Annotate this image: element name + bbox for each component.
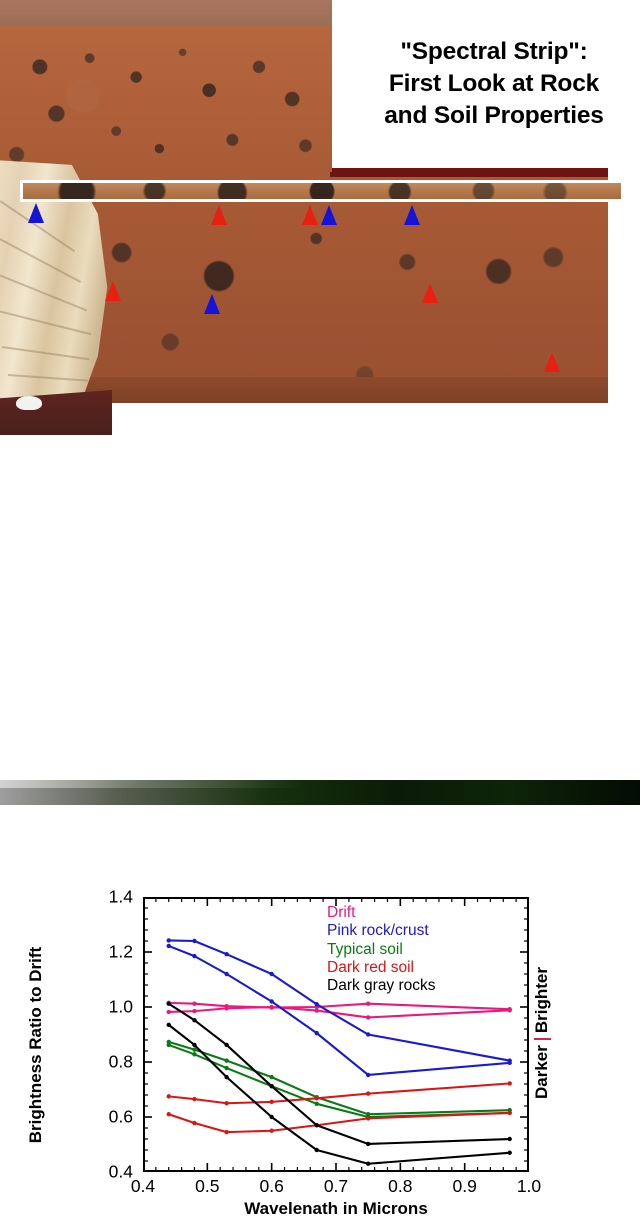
- chart-legend: DriftPink rock/crustTypical soilDark red…: [327, 904, 436, 995]
- spectra-chart: 0.40.60.81.01.21.4 0.40.50.60.70.80.91.0…: [0, 435, 640, 780]
- series-line: [169, 1025, 510, 1164]
- data-point: [366, 1002, 370, 1006]
- bottom-gradient-bar: [0, 780, 640, 805]
- red-arrow-marker: [544, 352, 560, 372]
- legend-item: Typical soil: [327, 941, 436, 959]
- data-point: [192, 1009, 196, 1013]
- right-axis-darker-label: Darker: [532, 1045, 552, 1099]
- data-point: [315, 1148, 319, 1152]
- legend-item: Dark gray rocks: [327, 977, 436, 995]
- data-point: [315, 1002, 319, 1006]
- data-point: [224, 972, 228, 976]
- data-point: [224, 1075, 228, 1079]
- photo-white-step-lower-right: [608, 322, 640, 435]
- right-axis-divider: [534, 1038, 551, 1040]
- y-tick-label: 1.2: [89, 942, 133, 963]
- data-point: [167, 1023, 171, 1027]
- data-point: [315, 1008, 319, 1012]
- blue-arrow-marker: [321, 205, 337, 225]
- series-line: [169, 1113, 510, 1132]
- title-line-2: First Look at Rock: [358, 68, 630, 100]
- legend-item: Drift: [327, 904, 436, 922]
- blue-arrow-marker: [204, 294, 220, 314]
- data-point: [167, 1112, 171, 1116]
- data-point: [508, 1061, 512, 1065]
- data-point: [224, 1101, 228, 1105]
- title-line-3: and Soil Properties: [358, 100, 630, 132]
- data-point: [269, 1115, 273, 1119]
- data-point: [366, 1162, 370, 1166]
- series-line: [169, 1007, 510, 1017]
- data-point: [224, 1043, 228, 1047]
- data-point: [192, 1052, 196, 1056]
- data-point: [366, 1116, 370, 1120]
- x-tick-label: 0.6: [249, 1176, 295, 1197]
- data-point: [269, 1129, 273, 1133]
- red-arrow-marker: [211, 205, 227, 225]
- data-point: [224, 952, 228, 956]
- data-point: [269, 972, 273, 976]
- y-tick-label: 0.6: [89, 1107, 133, 1128]
- lander-highlight: [16, 396, 42, 410]
- data-point: [508, 1081, 512, 1085]
- data-point: [224, 1058, 228, 1062]
- y-tick-label: 1.4: [89, 887, 133, 908]
- data-point: [192, 939, 196, 943]
- data-point: [315, 1102, 319, 1106]
- data-point: [167, 1002, 171, 1006]
- data-point: [508, 1137, 512, 1141]
- legend-item: Dark red soil: [327, 959, 436, 977]
- data-point: [192, 954, 196, 958]
- data-point: [192, 1043, 196, 1047]
- data-point: [167, 944, 171, 948]
- y-tick-label: 1.0: [89, 997, 133, 1018]
- blue-arrow-marker: [28, 203, 44, 223]
- mars-ground-rocks: [0, 26, 332, 172]
- data-point: [269, 1084, 273, 1088]
- data-point: [192, 1121, 196, 1125]
- x-tick-label: 0.7: [313, 1176, 359, 1197]
- data-point: [269, 1075, 273, 1079]
- red-arrow-marker: [105, 281, 121, 301]
- right-axis-title: Darker Brighter: [532, 963, 552, 1103]
- data-point: [269, 999, 273, 1003]
- data-point: [167, 938, 171, 942]
- mars-terrain-inset-photo: [0, 0, 332, 172]
- data-point: [167, 1043, 171, 1047]
- blue-arrow-marker: [404, 205, 420, 225]
- y-axis-title: Brightness Ratio to Drift: [26, 940, 46, 1150]
- y-tick-label: 0.8: [89, 1052, 133, 1073]
- data-point: [366, 1015, 370, 1019]
- red-arrow-marker: [302, 205, 318, 225]
- x-tick-label: 0.9: [442, 1176, 488, 1197]
- data-point: [315, 1123, 319, 1127]
- data-point: [315, 1031, 319, 1035]
- data-point: [224, 1066, 228, 1070]
- spectral-strip: [20, 180, 624, 202]
- x-axis-title: Wavelenath in Microns: [143, 1199, 529, 1219]
- data-point: [269, 1100, 273, 1104]
- series-line: [169, 1083, 510, 1103]
- title-line-1: "Spectral Strip":: [358, 36, 630, 68]
- data-point: [315, 1096, 319, 1100]
- data-point: [508, 1008, 512, 1012]
- data-point: [224, 1130, 228, 1134]
- x-tick-label: 0.4: [120, 1176, 166, 1197]
- x-tick-label: 1.0: [506, 1176, 552, 1197]
- x-tick-label: 0.8: [377, 1176, 423, 1197]
- data-point: [508, 1151, 512, 1155]
- data-point: [366, 1073, 370, 1077]
- data-point: [192, 1002, 196, 1006]
- mars-sky: [0, 0, 332, 26]
- data-point: [167, 1094, 171, 1098]
- data-point: [366, 1091, 370, 1095]
- data-point: [366, 1032, 370, 1036]
- data-point: [269, 1005, 273, 1009]
- data-point: [192, 1018, 196, 1022]
- page-title: "Spectral Strip": First Look at Rock and…: [358, 36, 630, 132]
- red-arrow-marker: [422, 283, 438, 303]
- data-point: [508, 1111, 512, 1115]
- series-line: [169, 1045, 510, 1117]
- data-point: [366, 1142, 370, 1146]
- right-axis-brighter-label: Brighter: [532, 967, 552, 1033]
- legend-item: Pink rock/crust: [327, 922, 436, 940]
- dark-red-band: [330, 168, 608, 177]
- data-point: [224, 1006, 228, 1010]
- data-point: [192, 1097, 196, 1101]
- bottom-bar-sheen: [0, 780, 640, 788]
- data-point: [167, 1010, 171, 1014]
- x-tick-label: 0.5: [184, 1176, 230, 1197]
- data-point: [192, 1047, 196, 1051]
